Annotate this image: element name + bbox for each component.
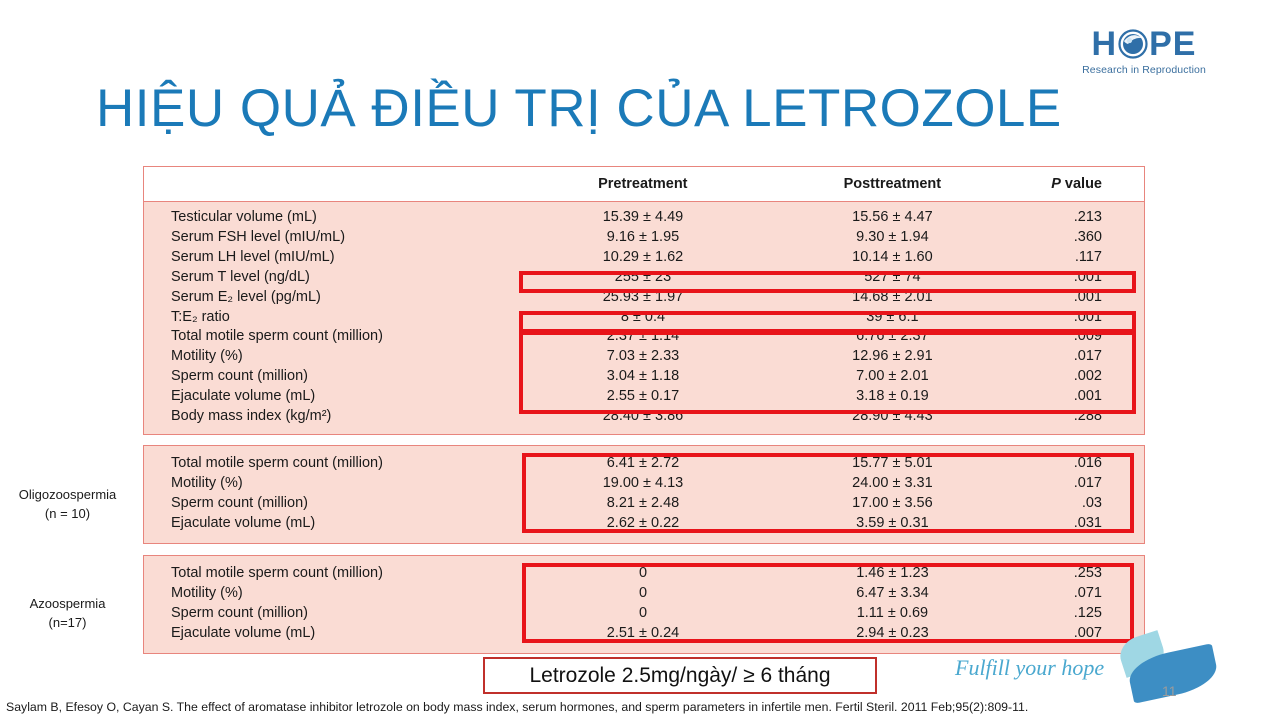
table-body-azoospermia: Total motile sperm count (million)01.46 … xyxy=(144,556,1144,653)
group-label-oligo-line2: (n = 10) xyxy=(0,504,135,523)
cell-parameter: Motility (%) xyxy=(144,347,518,367)
cell-pvalue: .288 xyxy=(1017,407,1144,427)
cell-pvalue: .03 xyxy=(1017,494,1144,514)
table-row: Sperm count (million)01.11 ± 0.69.125 xyxy=(144,604,1144,624)
table-row: Serum T level (ng/dL)255 ± 23527 ± 74.00… xyxy=(144,268,1144,288)
column-header-parameter xyxy=(144,167,518,201)
group-label-oligozoospermia: Oligozoospermia (n = 10) xyxy=(0,485,135,523)
table-row: Total motile sperm count (million)6.41 ±… xyxy=(144,454,1144,474)
cell-posttreatment: 28.90 ± 4.43 xyxy=(768,407,1017,427)
cell-posttreatment: 10.14 ± 1.60 xyxy=(768,248,1017,268)
table-row: Sperm count (million)3.04 ± 1.187.00 ± 2… xyxy=(144,367,1144,387)
table-row: Total motile sperm count (million)01.46 … xyxy=(144,564,1144,584)
cell-pretreatment: 2.51 ± 0.24 xyxy=(518,624,767,644)
cell-pvalue: .125 xyxy=(1017,604,1144,624)
table-row: T:E₂ ratio8 ± 0.439 ± 6.1.001 xyxy=(144,308,1144,328)
cell-pretreatment: 8 ± 0.4 xyxy=(518,308,767,328)
cell-posttreatment: 15.56 ± 4.47 xyxy=(768,208,1017,228)
group-label-azoospermia: Azoospermia (n=17) xyxy=(0,594,135,632)
cell-posttreatment: 12.96 ± 2.91 xyxy=(768,347,1017,367)
cell-parameter: Motility (%) xyxy=(144,584,518,604)
cell-pvalue: .001 xyxy=(1017,387,1144,407)
cell-parameter: Serum E₂ level (pg/mL) xyxy=(144,288,518,308)
table-body-oligozoospermia: Total motile sperm count (million)6.41 ±… xyxy=(144,446,1144,543)
cell-posttreatment: 2.94 ± 0.23 xyxy=(768,624,1017,644)
slide: H PE Research in Reproduction HIỆU QUẢ Đ… xyxy=(0,0,1280,720)
cell-parameter: Serum FSH level (mIU/mL) xyxy=(144,228,518,248)
table-row: Serum E₂ level (pg/mL)25.93 ± 1.9714.68 … xyxy=(144,288,1144,308)
cell-parameter: Serum LH level (mIU/mL) xyxy=(144,248,518,268)
table-row: Ejaculate volume (mL)2.55 ± 0.173.18 ± 0… xyxy=(144,387,1144,407)
table-header-row: Pretreatment Posttreatment P value xyxy=(144,167,1144,202)
table-row: Sperm count (million)8.21 ± 2.4817.00 ± … xyxy=(144,494,1144,514)
table-row: Ejaculate volume (mL)2.51 ± 0.242.94 ± 0… xyxy=(144,624,1144,644)
cell-posttreatment: 17.00 ± 3.56 xyxy=(768,494,1017,514)
results-table-oligozoospermia: Total motile sperm count (million)6.41 ±… xyxy=(143,445,1145,544)
cell-pretreatment: 9.16 ± 1.95 xyxy=(518,228,767,248)
circular-swirl-icon xyxy=(1118,29,1148,59)
cell-pvalue: .213 xyxy=(1017,208,1144,228)
cell-parameter: Serum T level (ng/dL) xyxy=(144,268,518,288)
cell-pretreatment: 7.03 ± 2.33 xyxy=(518,347,767,367)
group-label-oligo-line1: Oligozoospermia xyxy=(0,485,135,504)
cell-pvalue: .016 xyxy=(1017,454,1144,474)
cell-pretreatment: 2.55 ± 0.17 xyxy=(518,387,767,407)
table-row: Motility (%)19.00 ± 4.1324.00 ± 3.31.017 xyxy=(144,474,1144,494)
cell-pretreatment: 15.39 ± 4.49 xyxy=(518,208,767,228)
cell-pvalue: .007 xyxy=(1017,624,1144,644)
column-header-pretreatment: Pretreatment xyxy=(518,167,768,201)
cell-pretreatment: 0 xyxy=(518,584,767,604)
cell-posttreatment: 24.00 ± 3.31 xyxy=(768,474,1017,494)
cell-pretreatment: 2.62 ± 0.22 xyxy=(518,514,767,534)
footer-tagline: Fulfill your hope xyxy=(955,655,1104,681)
cell-posttreatment: 3.59 ± 0.31 xyxy=(768,514,1017,534)
cell-posttreatment: 527 ± 74 xyxy=(768,268,1017,288)
table-row: Serum FSH level (mIU/mL)9.16 ± 1.959.30 … xyxy=(144,228,1144,248)
cell-pvalue: .031 xyxy=(1017,514,1144,534)
cell-pretreatment: 10.29 ± 1.62 xyxy=(518,248,767,268)
column-header-pvalue: P value xyxy=(1017,167,1144,201)
cell-pretreatment: 0 xyxy=(518,604,767,624)
results-table-overall: Pretreatment Posttreatment P value Testi… xyxy=(143,166,1145,435)
group-label-azoo-line2: (n=17) xyxy=(0,613,135,632)
cell-parameter: Total motile sperm count (million) xyxy=(144,564,518,584)
cell-pvalue: .117 xyxy=(1017,248,1144,268)
page-title: HIỆU QUẢ ĐIỀU TRỊ CỦA LETROZOLE xyxy=(96,78,1106,140)
logo-tagline: Research in Reproduction xyxy=(1080,64,1208,76)
cell-pretreatment: 0 xyxy=(518,564,767,584)
results-table-azoospermia: Total motile sperm count (million)01.46 … xyxy=(143,555,1145,654)
cell-parameter: Body mass index (kg/m²) xyxy=(144,407,518,427)
table-row: Motility (%)06.47 ± 3.34.071 xyxy=(144,584,1144,604)
logo-letter-h: H xyxy=(1092,27,1118,61)
cell-parameter: Sperm count (million) xyxy=(144,367,518,387)
cell-posttreatment: 14.68 ± 2.01 xyxy=(768,288,1017,308)
cell-parameter: Ejaculate volume (mL) xyxy=(144,624,518,644)
cell-pvalue: .001 xyxy=(1017,268,1144,288)
table-row: Ejaculate volume (mL)2.62 ± 0.223.59 ± 0… xyxy=(144,514,1144,534)
cell-pvalue: .001 xyxy=(1017,288,1144,308)
table-body-overall: Testicular volume (mL)15.39 ± 4.4915.56 … xyxy=(144,202,1144,434)
cell-posttreatment: 6.76 ± 2.37 xyxy=(768,327,1017,347)
cell-posttreatment: 1.11 ± 0.69 xyxy=(768,604,1017,624)
cell-parameter: Total motile sperm count (million) xyxy=(144,327,518,347)
cell-pretreatment: 19.00 ± 4.13 xyxy=(518,474,767,494)
cell-parameter: Motility (%) xyxy=(144,474,518,494)
citation-text: Saylam B, Efesoy O, Cayan S. The effect … xyxy=(6,700,1276,714)
cell-parameter: T:E₂ ratio xyxy=(144,308,518,328)
cell-pvalue: .002 xyxy=(1017,367,1144,387)
cell-parameter: Ejaculate volume (mL) xyxy=(144,387,518,407)
cell-pvalue: .001 xyxy=(1017,308,1144,328)
cell-pretreatment: 2.37 ± 1.14 xyxy=(518,327,767,347)
cell-pvalue: .360 xyxy=(1017,228,1144,248)
cell-pvalue: .071 xyxy=(1017,584,1144,604)
cell-pretreatment: 28.40 ± 3.86 xyxy=(518,407,767,427)
cell-pretreatment: 255 ± 23 xyxy=(518,268,767,288)
cell-parameter: Testicular volume (mL) xyxy=(144,208,518,228)
group-label-azoo-line1: Azoospermia xyxy=(0,594,135,613)
cell-pretreatment: 8.21 ± 2.48 xyxy=(518,494,767,514)
cell-posttreatment: 1.46 ± 1.23 xyxy=(768,564,1017,584)
dosage-caption-text: Letrozole 2.5mg/ngày/ ≥ 6 tháng xyxy=(529,664,830,688)
cell-posttreatment: 3.18 ± 0.19 xyxy=(768,387,1017,407)
table-row: Body mass index (kg/m²)28.40 ± 3.8628.90… xyxy=(144,407,1144,427)
table-row: Serum LH level (mIU/mL)10.29 ± 1.6210.14… xyxy=(144,248,1144,268)
cell-parameter: Sperm count (million) xyxy=(144,604,518,624)
cell-parameter: Total motile sperm count (million) xyxy=(144,454,518,474)
table-row: Total motile sperm count (million)2.37 ±… xyxy=(144,327,1144,347)
cell-pvalue: .009 xyxy=(1017,327,1144,347)
hope-logo: H PE Research in Reproduction xyxy=(1080,26,1208,80)
logo-wordmark: H PE xyxy=(1080,26,1208,62)
cell-posttreatment: 15.77 ± 5.01 xyxy=(768,454,1017,474)
dosage-caption-box: Letrozole 2.5mg/ngày/ ≥ 6 tháng xyxy=(483,657,877,694)
cell-pretreatment: 25.93 ± 1.97 xyxy=(518,288,767,308)
cell-parameter: Sperm count (million) xyxy=(144,494,518,514)
table-row: Testicular volume (mL)15.39 ± 4.4915.56 … xyxy=(144,208,1144,228)
table-row: Motility (%)7.03 ± 2.3312.96 ± 2.91.017 xyxy=(144,347,1144,367)
logo-letters-pe: PE xyxy=(1149,27,1196,61)
page-number: 11 xyxy=(1162,683,1177,699)
cell-parameter: Ejaculate volume (mL) xyxy=(144,514,518,534)
column-header-posttreatment: Posttreatment xyxy=(768,167,1018,201)
cell-posttreatment: 39 ± 6.1 xyxy=(768,308,1017,328)
cell-pvalue: .253 xyxy=(1017,564,1144,584)
cell-pretreatment: 6.41 ± 2.72 xyxy=(518,454,767,474)
cell-posttreatment: 7.00 ± 2.01 xyxy=(768,367,1017,387)
cell-pvalue: .017 xyxy=(1017,347,1144,367)
cell-posttreatment: 6.47 ± 3.34 xyxy=(768,584,1017,604)
cell-pvalue: .017 xyxy=(1017,474,1144,494)
cell-posttreatment: 9.30 ± 1.94 xyxy=(768,228,1017,248)
cell-pretreatment: 3.04 ± 1.18 xyxy=(518,367,767,387)
